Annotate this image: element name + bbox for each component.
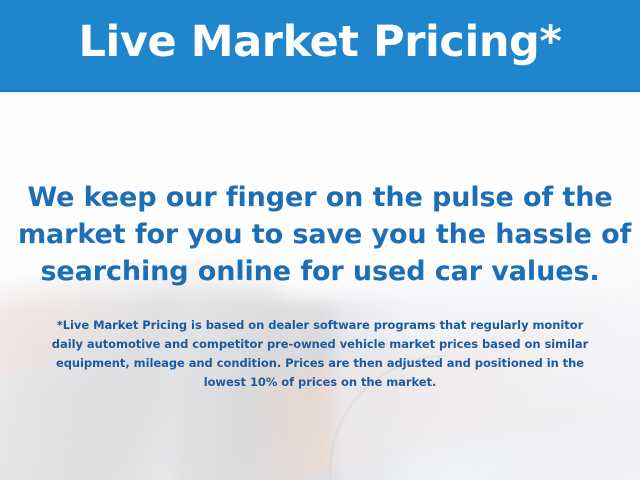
content-area: We keep our finger on the pulse of the m… <box>0 92 640 480</box>
live-market-pricing-promo: Live Market Pricing* We keep our finger … <box>0 0 640 480</box>
disclaimer-line: daily automotive and competitor pre-owne… <box>20 335 620 354</box>
disclaimer-line: lowest 10% of prices on the market. <box>20 373 620 392</box>
disclaimer-block: *Live Market Pricing is based on dealer … <box>0 316 640 392</box>
headline-block: We keep our finger on the pulse of the m… <box>0 179 640 290</box>
headline-line: We keep our finger on the pulse of the <box>18 179 622 216</box>
disclaimer-line: *Live Market Pricing is based on dealer … <box>20 316 620 335</box>
header-banner: Live Market Pricing* <box>0 0 640 92</box>
header-underglow <box>0 92 640 97</box>
headline-line: market for you to save you the hassle of <box>18 216 622 253</box>
page-title: Live Market Pricing* <box>78 21 561 68</box>
disclaimer-line: equipment, mileage and condition. Prices… <box>20 354 620 373</box>
headline-line: searching online for used car values. <box>18 253 622 290</box>
